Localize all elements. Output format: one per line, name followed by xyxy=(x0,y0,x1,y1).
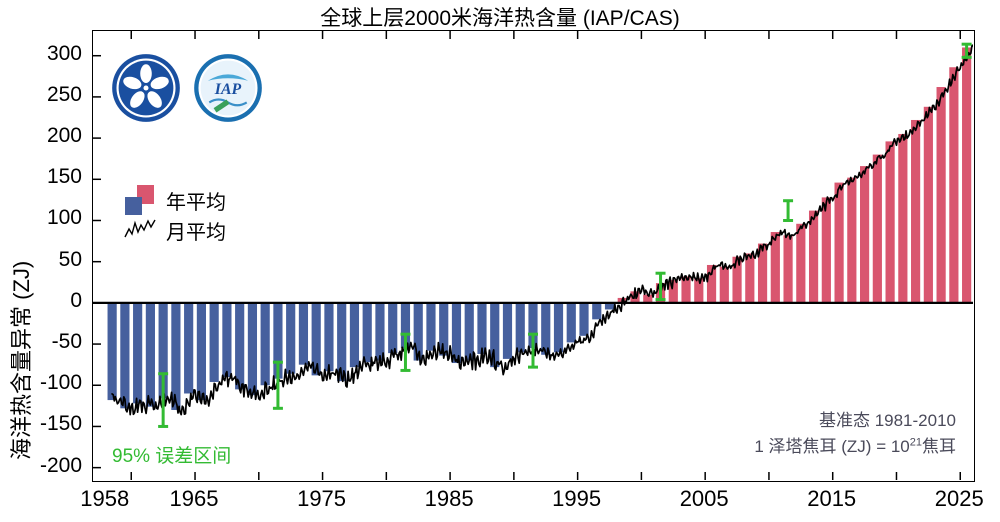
y-tick-label: -150 xyxy=(40,413,82,434)
y-tick-label: 300 xyxy=(47,43,82,64)
y-tick-label: 0 xyxy=(70,290,82,311)
y-tick-label: -50 xyxy=(52,331,82,352)
page-title: 全球上层2000米海洋热含量 (IAP/CAS) xyxy=(0,2,1000,32)
x-axis-tick-labels: 19581965197519851995200520152025 xyxy=(0,486,1000,520)
y-tick-label: 50 xyxy=(59,249,82,270)
x-tick-label: 2005 xyxy=(680,486,729,512)
annual-bar xyxy=(579,303,588,336)
y-tick-label: 200 xyxy=(47,125,82,146)
annual-bar xyxy=(745,253,754,302)
annual-bar xyxy=(452,303,461,363)
annual-bar xyxy=(286,303,295,374)
unit-prefix: 1 泽塔焦耳 (ZJ) = 10 xyxy=(754,437,909,456)
annual-bar xyxy=(541,303,550,355)
legend-item-annual: 年平均 xyxy=(123,185,226,215)
annual-bar xyxy=(171,303,180,410)
annual-bar xyxy=(834,183,843,303)
y-tick-label: 100 xyxy=(47,207,82,228)
annual-bar xyxy=(847,178,856,303)
annual-bar xyxy=(426,303,435,351)
annual-bar xyxy=(299,303,308,365)
cas-logo xyxy=(110,52,182,124)
y-tick-label: 250 xyxy=(47,84,82,105)
annual-bar xyxy=(822,197,831,302)
x-tick-label: 1985 xyxy=(425,486,474,512)
annual-bar xyxy=(796,224,805,303)
x-tick-label: 1995 xyxy=(552,486,601,512)
annual-bar xyxy=(248,303,257,395)
annual-bar xyxy=(210,303,219,382)
chart-notes: 基准态 1981-2010 1 泽塔焦耳 (ZJ) = 1021焦耳 xyxy=(754,408,956,461)
annual-bar xyxy=(261,303,270,385)
annual-bar xyxy=(235,303,244,390)
logo-group: IAP xyxy=(110,52,264,124)
annual-bar xyxy=(133,303,142,404)
annual-bar xyxy=(516,303,525,352)
legend-item-monthly: 月平均 xyxy=(123,215,226,245)
annual-bar xyxy=(146,303,155,407)
annual-bar xyxy=(197,303,206,400)
unit-exponent: 21 xyxy=(910,437,922,449)
annual-bar xyxy=(567,303,576,343)
annual-bar xyxy=(477,303,486,354)
annual-negative-swatch xyxy=(125,197,142,215)
x-tick-label: 1975 xyxy=(297,486,346,512)
annual-bar xyxy=(108,303,117,400)
x-tick-label: 2025 xyxy=(935,486,984,512)
error-bar xyxy=(783,201,793,221)
unit-suffix: 焦耳 xyxy=(922,437,956,456)
legend-label-monthly: 月平均 xyxy=(166,216,226,245)
x-tick-label: 2015 xyxy=(807,486,856,512)
annual-bar xyxy=(414,303,423,361)
x-tick-label: 1958 xyxy=(80,486,129,512)
annual-bar xyxy=(554,303,563,352)
annual-bar xyxy=(873,155,882,303)
annual-bar xyxy=(324,303,333,371)
annual-bar xyxy=(375,303,384,361)
annual-bar xyxy=(222,303,231,377)
y-tick-label: -200 xyxy=(40,455,82,476)
annual-bar xyxy=(962,47,971,302)
annual-bar xyxy=(860,166,869,303)
chart-root: 全球上层2000米海洋热含量 (IAP/CAS) 300250200150100… xyxy=(0,0,1000,522)
annual-bar xyxy=(184,303,193,394)
x-tick-label: 1965 xyxy=(170,486,219,512)
annual-bar xyxy=(503,303,512,359)
chart-legend: 年平均 月平均 xyxy=(123,185,226,245)
unit-definition-note: 1 泽塔焦耳 (ZJ) = 1021焦耳 xyxy=(754,434,956,460)
iap-logo: IAP xyxy=(192,52,264,124)
y-tick-label: 150 xyxy=(47,166,82,187)
svg-text:IAP: IAP xyxy=(214,81,242,98)
y-tick-label: -100 xyxy=(40,372,82,393)
legend-label-annual: 年平均 xyxy=(166,186,226,215)
annual-bar xyxy=(363,303,372,362)
annual-bar xyxy=(911,120,920,303)
annual-bar xyxy=(898,134,907,303)
annual-bar xyxy=(388,303,397,353)
annual-bar xyxy=(337,303,346,381)
error-interval-note: 95% 误差区间 xyxy=(112,441,231,468)
annual-bar xyxy=(886,141,895,302)
y-axis-label: 海洋热含量异常 (ZJ) xyxy=(4,261,36,460)
annual-bar xyxy=(720,267,729,303)
annual-bar xyxy=(937,87,946,303)
annual-bar xyxy=(592,303,601,319)
annual-bar xyxy=(783,235,792,303)
annual-bar xyxy=(924,107,933,303)
monthly-line-icon xyxy=(123,215,157,245)
annual-bar xyxy=(465,303,474,361)
baseline-period-note: 基准态 1981-2010 xyxy=(754,408,956,434)
annual-swatch xyxy=(123,185,157,215)
annual-bar xyxy=(350,303,359,367)
annual-bar xyxy=(949,67,958,303)
annual-bar xyxy=(120,303,129,408)
